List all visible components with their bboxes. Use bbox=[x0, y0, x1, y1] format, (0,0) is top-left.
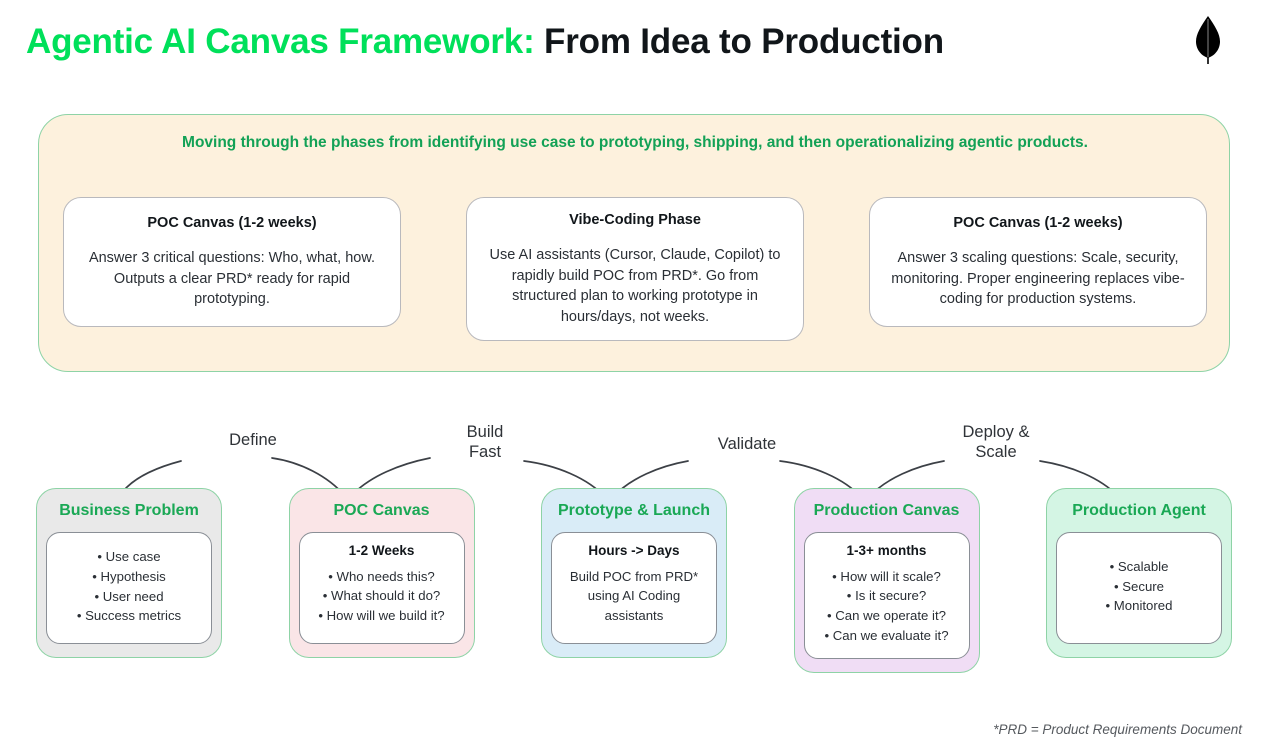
phase-card[interactable]: POC Canvas (1-2 weeks) Answer 3 scaling … bbox=[869, 197, 1207, 327]
flow-node-duration: Hours -> Days bbox=[559, 543, 709, 558]
flow-node-poc-canvas[interactable]: POC Canvas 1-2 Weeks • Who needs this? •… bbox=[289, 488, 475, 658]
phase-card-body: Answer 3 scaling questions: Scale, secur… bbox=[888, 248, 1188, 310]
list-item: • What should it do? bbox=[307, 586, 457, 606]
flow-node-bullet-list: • Use case • Hypothesis • User need • Su… bbox=[54, 547, 204, 626]
list-item: • Hypothesis bbox=[54, 567, 204, 587]
banner-subtitle: Moving through the phases from identifyi… bbox=[99, 132, 1171, 154]
phase-card-title: Vibe-Coding Phase bbox=[485, 211, 785, 229]
list-item: • Use case bbox=[54, 547, 204, 567]
list-item: • Success metrics bbox=[54, 606, 204, 626]
phase-card-list: POC Canvas (1-2 weeks) Answer 3 critical… bbox=[63, 197, 1207, 341]
footnote: *PRD = Product Requirements Document bbox=[993, 722, 1242, 737]
flow-node-detail-box: 1-2 Weeks • Who needs this? • What shoul… bbox=[299, 532, 465, 644]
list-item: • Scalable bbox=[1064, 557, 1214, 577]
flow-node-business-problem[interactable]: Business Problem • Use case • Hypothesis… bbox=[36, 488, 222, 658]
flow-node-description: Build POC from PRD* using AI Coding assi… bbox=[559, 567, 709, 626]
flow-node-duration: 1-2 Weeks bbox=[307, 543, 457, 558]
page-title: Agentic AI Canvas Framework: From Idea t… bbox=[26, 22, 944, 62]
flow-node-detail-box: • Use case • Hypothesis • User need • Su… bbox=[46, 532, 212, 644]
flow-node-production-canvas[interactable]: Production Canvas 1-3+ months • How will… bbox=[794, 488, 980, 673]
flow-node-bullet-list: • Who needs this? • What should it do? •… bbox=[307, 567, 457, 626]
list-item: • Can we evaluate it? bbox=[812, 626, 962, 646]
flow-node-title: POC Canvas bbox=[299, 501, 465, 521]
arrow-label-define: Define bbox=[198, 430, 308, 450]
phase-card-title: POC Canvas (1-2 weeks) bbox=[888, 214, 1188, 232]
flow-node-bullet-list: • Scalable • Secure • Monitored bbox=[1064, 557, 1214, 616]
flow-diagram: Define Build Fast Validate Deploy & Scal… bbox=[0, 404, 1266, 714]
flow-node-duration: 1-3+ months bbox=[812, 543, 962, 558]
list-item: • How will it scale? bbox=[812, 567, 962, 587]
list-item: • Is it secure? bbox=[812, 586, 962, 606]
arrow-label-validate: Validate bbox=[692, 434, 802, 454]
page-title-accent: Agentic AI Canvas Framework: bbox=[26, 22, 535, 61]
flow-node-title: Production Canvas bbox=[804, 501, 970, 521]
phases-banner: Moving through the phases from identifyi… bbox=[38, 114, 1230, 372]
list-item: • User need bbox=[54, 587, 204, 607]
list-item: • How will we build it? bbox=[307, 606, 457, 626]
flow-node-title: Production Agent bbox=[1056, 501, 1222, 521]
mongodb-leaf-icon bbox=[1186, 14, 1230, 66]
phase-card-body: Answer 3 critical questions: Who, what, … bbox=[82, 248, 382, 310]
phase-card[interactable]: POC Canvas (1-2 weeks) Answer 3 critical… bbox=[63, 197, 401, 327]
page-title-rest: From Idea to Production bbox=[535, 22, 944, 61]
page-header: Agentic AI Canvas Framework: From Idea t… bbox=[0, 0, 1266, 100]
arrow-label-build-fast: Build Fast bbox=[443, 422, 527, 463]
flow-node-detail-box: • Scalable • Secure • Monitored bbox=[1056, 532, 1222, 644]
flow-node-title: Prototype & Launch bbox=[551, 501, 717, 521]
flow-node-detail-box: 1-3+ months • How will it scale? • Is it… bbox=[804, 532, 970, 659]
phase-card-body: Use AI assistants (Cursor, Claude, Copil… bbox=[485, 245, 785, 327]
list-item: • Secure bbox=[1064, 577, 1214, 597]
flow-node-title: Business Problem bbox=[46, 501, 212, 521]
list-item: • Monitored bbox=[1064, 596, 1214, 616]
flow-node-detail-box: Hours -> Days Build POC from PRD* using … bbox=[551, 532, 717, 644]
flow-node-production-agent[interactable]: Production Agent • Scalable • Secure • M… bbox=[1046, 488, 1232, 658]
flow-node-prototype-launch[interactable]: Prototype & Launch Hours -> Days Build P… bbox=[541, 488, 727, 658]
arrow-label-deploy-scale: Deploy & Scale bbox=[940, 422, 1052, 463]
flow-node-list: Business Problem • Use case • Hypothesis… bbox=[36, 488, 1232, 673]
list-item: • Can we operate it? bbox=[812, 606, 962, 626]
phase-card-title: POC Canvas (1-2 weeks) bbox=[82, 214, 382, 232]
flow-node-bullet-list: • How will it scale? • Is it secure? • C… bbox=[812, 567, 962, 646]
phase-card[interactable]: Vibe-Coding Phase Use AI assistants (Cur… bbox=[466, 197, 804, 341]
list-item: • Who needs this? bbox=[307, 567, 457, 587]
